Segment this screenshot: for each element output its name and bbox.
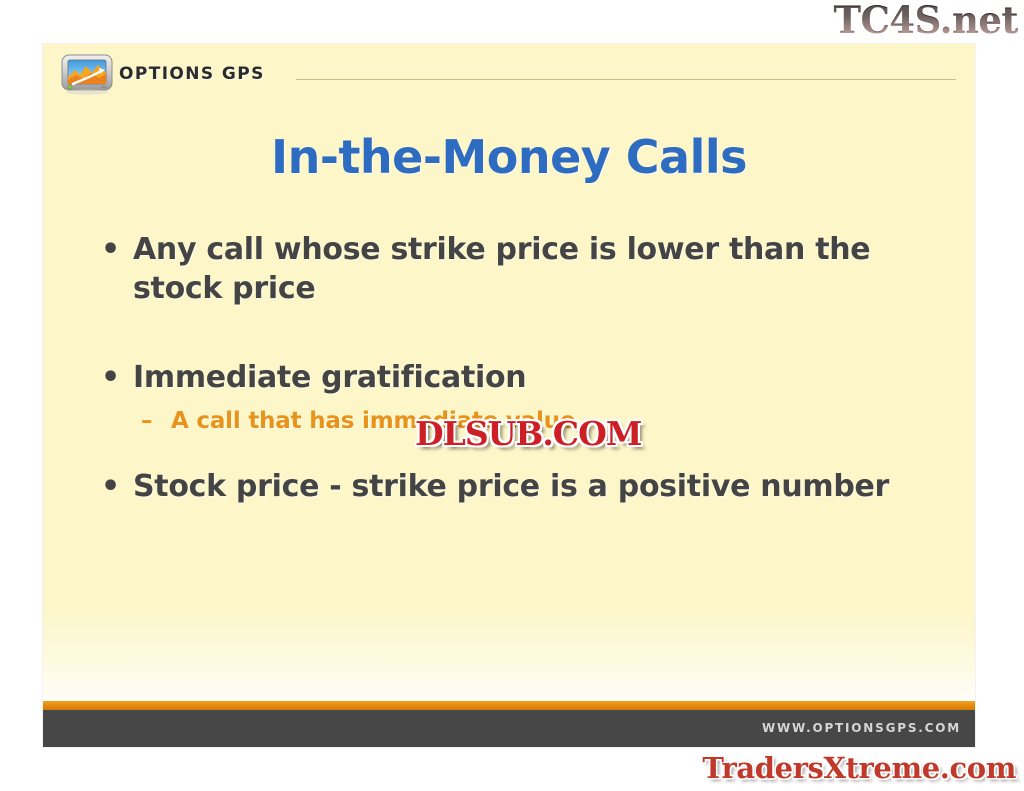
spacer bbox=[95, 318, 925, 358]
dash-marker-icon: – bbox=[141, 407, 171, 437]
bullet-text: Any call whose strike price is lower tha… bbox=[133, 230, 925, 308]
bullet-marker-icon: • bbox=[95, 467, 133, 506]
footer-website-label: WWW.OPTIONSGPS.COM bbox=[762, 721, 961, 735]
bullet-list: • Any call whose strike price is lower t… bbox=[95, 230, 925, 516]
bullet-marker-icon: • bbox=[95, 230, 133, 269]
list-item: • Any call whose strike price is lower t… bbox=[95, 230, 925, 308]
page-title: In-the-Money Calls bbox=[43, 130, 975, 184]
watermark-tradersxtreme: TradersXtreme.com bbox=[702, 751, 1016, 785]
list-item: • Immediate gratification bbox=[95, 358, 925, 397]
bullet-marker-icon: • bbox=[95, 358, 133, 397]
header-divider bbox=[296, 79, 956, 80]
bullet-text: Stock price - strike price is a positive… bbox=[133, 467, 925, 506]
screenshot-root: TC4S.net bbox=[0, 0, 1024, 791]
accent-bar bbox=[43, 701, 975, 710]
list-item: • Stock price - strike price is a positi… bbox=[95, 467, 925, 506]
watermark-dlsub: DLSUB.COM bbox=[415, 414, 641, 453]
presentation-slide: OPTIONS GPS In-the-Money Calls • Any cal… bbox=[43, 44, 975, 747]
bullet-text: Immediate gratification bbox=[133, 358, 925, 397]
slide-content-area: OPTIONS GPS In-the-Money Calls • Any cal… bbox=[43, 44, 975, 701]
gps-device-icon bbox=[61, 53, 117, 95]
brand-label: OPTIONS GPS bbox=[119, 64, 265, 84]
watermark-tc4s: TC4S.net bbox=[833, 0, 1018, 42]
slide-footer: WWW.OPTIONSGPS.COM bbox=[43, 710, 975, 747]
slide-header: OPTIONS GPS bbox=[43, 44, 975, 102]
